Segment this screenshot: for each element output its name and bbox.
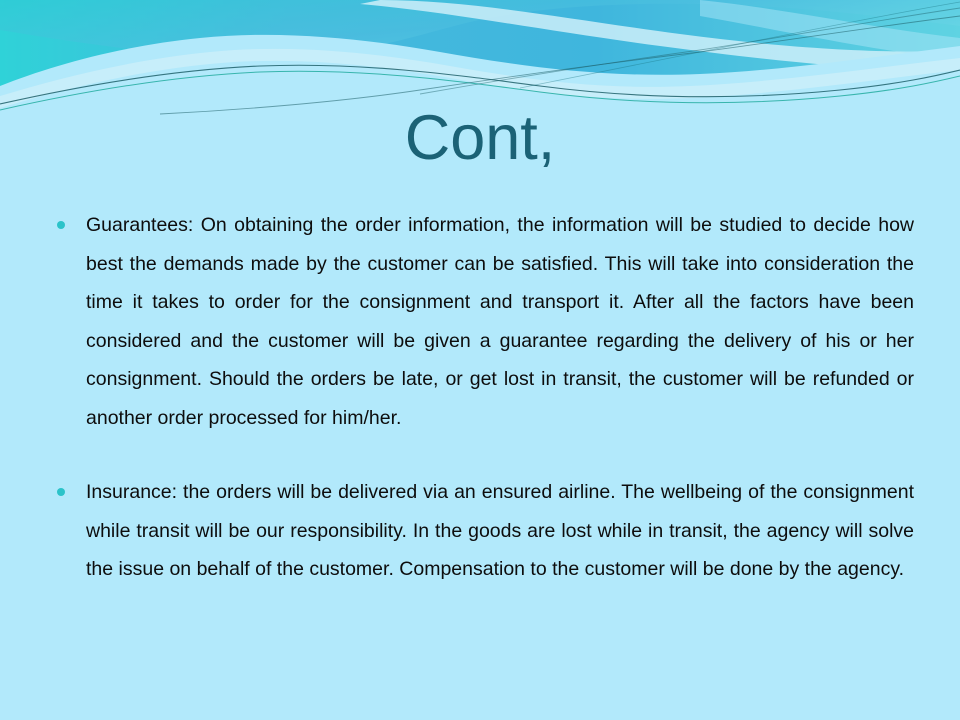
list-item: Insurance: the orders will be delivered …	[46, 473, 914, 589]
list-item: Guarantees: On obtaining the order infor…	[46, 206, 914, 437]
page-title: Cont,	[0, 104, 960, 173]
bullet-dot-icon	[57, 221, 65, 229]
list-item-text: Insurance: the orders will be delivered …	[86, 473, 914, 589]
decorative-wave-banner	[0, 0, 960, 120]
presentation-slide: Cont, Guarantees: On obtaining the order…	[0, 0, 960, 720]
list-item-text: Guarantees: On obtaining the order infor…	[86, 206, 914, 437]
slide-body-bullet-list: Guarantees: On obtaining the order infor…	[46, 206, 914, 589]
bullet-dot-icon	[57, 488, 65, 496]
